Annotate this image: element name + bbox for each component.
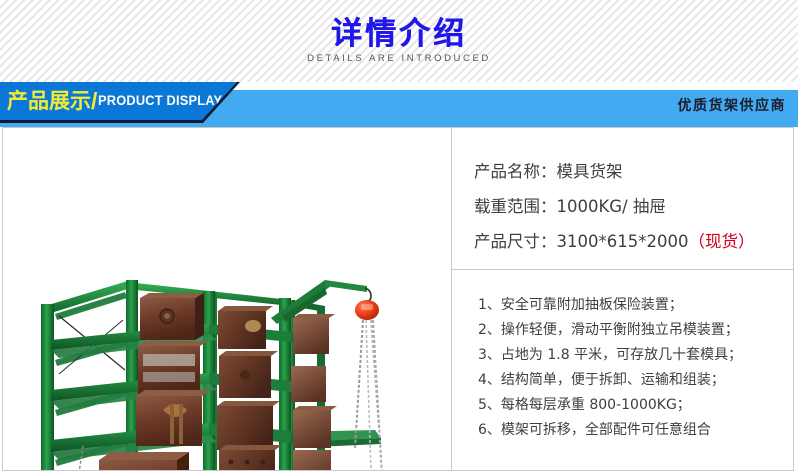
- section-tag-label-cn: 产品展示: [7, 91, 91, 112]
- section-tag-label-en: PRODUCT DISPLAY: [98, 94, 222, 108]
- mold-rack-illustration: [3, 128, 450, 470]
- content-frame: 产品名称：模具货架 载重范围：1000KG/ 抽屉 产品尺寸：3100*615*…: [2, 127, 794, 471]
- feature-list: 1、安全可靠附加抽板保险装置； 2、操作轻便，滑动平衡附独立吊模装置； 3、占地…: [452, 271, 794, 470]
- spec-label: 载重范围：: [474, 197, 557, 216]
- spec-value: 模具货架: [557, 162, 623, 181]
- spec-value: 3100*615*2000: [557, 232, 689, 251]
- feature-item: 5、每格每层承重 800-1000KG；: [478, 393, 794, 418]
- product-info-column: 产品名称：模具货架 载重范围：1000KG/ 抽屉 产品尺寸：3100*615*…: [451, 128, 794, 470]
- spec-label: 产品名称：: [474, 162, 557, 181]
- spec-label: 产品尺寸：: [474, 232, 557, 251]
- product-photo-column: [3, 128, 450, 470]
- feature-item: 6、模架可拆移，全部配件可任意组合: [478, 418, 794, 443]
- product-photo: [3, 128, 450, 470]
- supplier-slogan: 优质货架供应商: [678, 95, 787, 115]
- feature-item: 2、操作轻便，滑动平衡附独立吊模装置；: [478, 318, 794, 343]
- feature-item: 3、占地为 1.8 平米，可存放几十套模具；: [478, 343, 794, 368]
- header-title-group: 详情介绍 DETAILS ARE INTRODUCED: [0, 0, 798, 82]
- feature-item: 4、结构简单，便于拆卸、运输和组装；: [478, 368, 794, 393]
- feature-item: 1、安全可靠附加抽板保险装置；: [478, 293, 794, 318]
- spec-list: 产品名称：模具货架 载重范围：1000KG/ 抽屉 产品尺寸：3100*615*…: [452, 128, 794, 270]
- section-tag: 产品展示 / PRODUCT DISPLAY: [0, 82, 237, 120]
- page-title-cn: 详情介绍: [331, 18, 467, 51]
- spec-row: 产品尺寸：3100*615*2000（现货）: [474, 224, 794, 259]
- section-tag-slash: /: [91, 90, 97, 113]
- spec-row: 载重范围：1000KG/ 抽屉: [474, 189, 794, 224]
- stock-badge: （现货）: [688, 232, 754, 251]
- spec-row: 产品名称：模具货架: [474, 154, 794, 189]
- page-title-en: DETAILS ARE INTRODUCED: [307, 53, 491, 64]
- spec-value: 1000KG/ 抽屉: [557, 197, 666, 216]
- detail-page: 详情介绍 DETAILS ARE INTRODUCED 产品展示 / PRODU…: [0, 0, 798, 475]
